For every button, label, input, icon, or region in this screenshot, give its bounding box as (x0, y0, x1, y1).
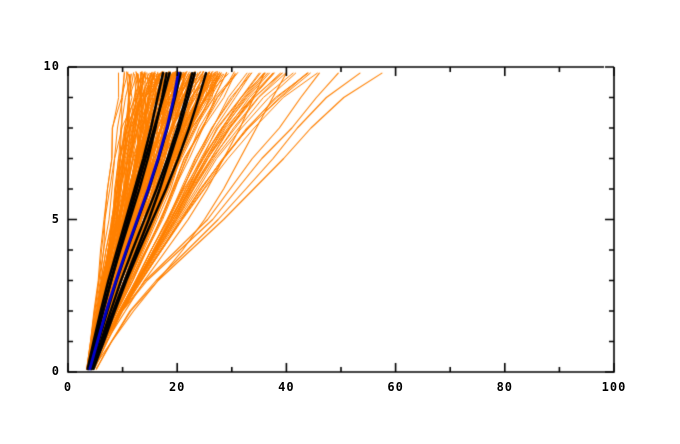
y-tick-label: 5 (30, 212, 60, 226)
x-tick-label: 40 (266, 380, 306, 394)
plot-canvas (0, 0, 680, 440)
y-tick-label: 10 (30, 59, 60, 73)
y-tick-label: 0 (30, 364, 60, 378)
chart-container: T0990 Distance Cutoff, A Percent of Resi… (0, 0, 680, 440)
x-tick-label: 20 (157, 380, 197, 394)
x-tick-label: 100 (594, 380, 634, 394)
x-tick-label: 0 (48, 380, 88, 394)
x-tick-label: 80 (485, 380, 525, 394)
plot-canvas-wrapper (0, 0, 680, 444)
x-tick-label: 60 (376, 380, 416, 394)
